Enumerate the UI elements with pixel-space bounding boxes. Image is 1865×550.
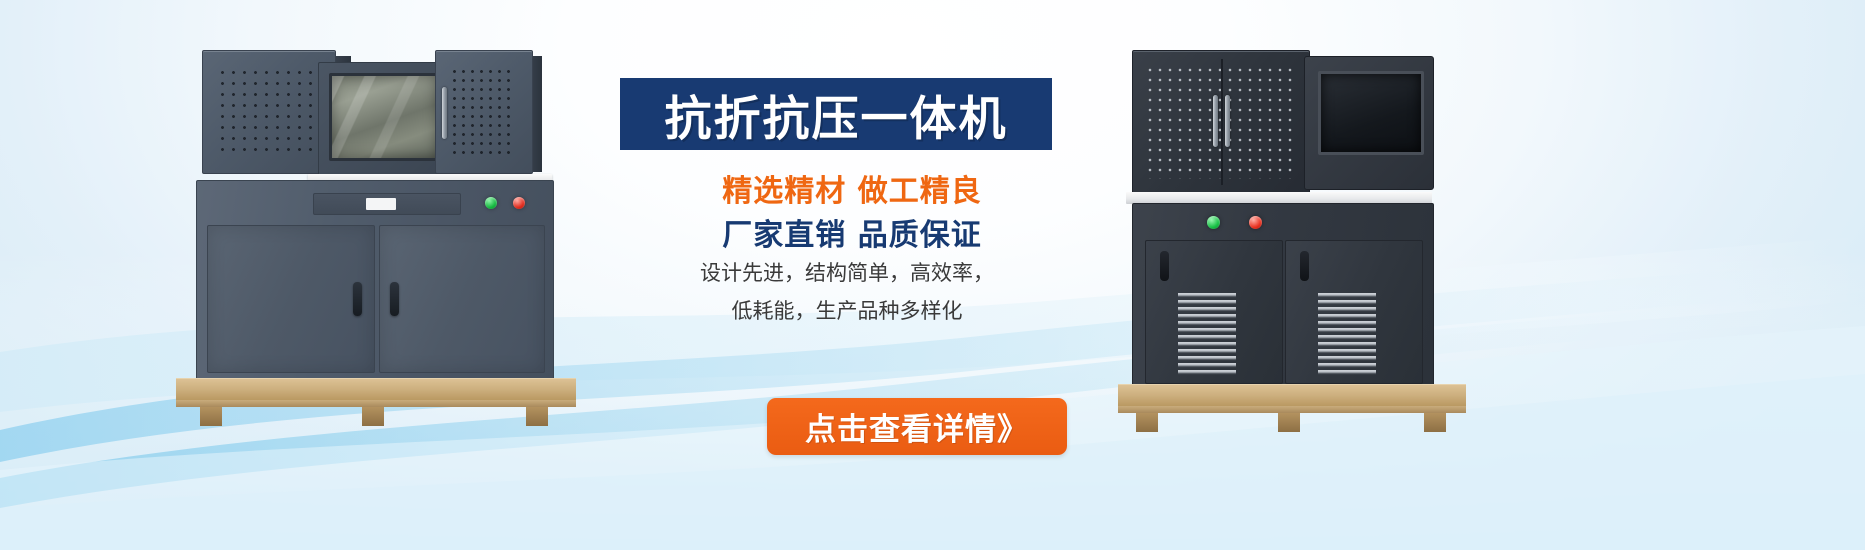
left-machine-cabinet-door-2 [379,225,545,373]
pallet-deck [1118,384,1466,407]
indicator-light-green [1207,216,1220,229]
pallet-leg [1278,413,1300,432]
indicator-light-red [1249,216,1262,229]
headline-orange: 精选精材 做工精良 [652,166,1052,210]
left-machine-top-left-cabinet [202,50,336,174]
pallet-slat [176,400,576,407]
left-machine-screen [329,73,441,161]
left-machine-top-right-cabinet [435,50,533,174]
view-details-label: 点击查看详情》 [805,404,1029,449]
pallet-leg [526,407,548,426]
cabinet-handle [442,87,447,139]
cabinet-divider [1221,59,1223,185]
pallet-deck [176,378,576,401]
right-machine-body [1132,203,1434,391]
pallet-leg [1136,413,1158,432]
vent-louver-icon [1178,293,1236,375]
door-handle [353,282,362,316]
machine-left-photo [170,48,566,403]
product-banner: 抗折抗压一体机 精选精材 做工精良 厂家直销 品质保证 设计先进，结构简单，高效… [0,0,1865,550]
door-handle [1300,251,1309,281]
cabinet-handle [1213,95,1218,147]
perforated-panel-icon [450,67,510,155]
indicator-light-red [513,197,525,209]
left-machine-monitor-frame [318,62,446,176]
right-machine-top-cabinet [1132,50,1310,194]
description-line-2: 低耗能，生产品种多样化 [632,296,1062,328]
banner-text-content: 抗折抗压一体机 精选精材 做工精良 厂家直销 品质保证 设计先进，结构简单，高效… [612,70,1072,470]
door-handle [390,282,399,316]
view-details-button[interactable]: 点击查看详情》 [767,398,1067,455]
cabinet-handle [1225,95,1230,147]
description-line-1: 设计先进，结构简单，高效率， [632,258,1062,290]
control-panel-display [366,198,396,210]
left-machine-wooden-pallet [176,378,576,426]
right-machine-wooden-pallet [1118,384,1466,432]
indicator-light-green [485,197,497,209]
left-machine-cabinet-door-1 [207,225,375,373]
right-machine-cabinet-door-2 [1285,240,1423,384]
title-bar: 抗折抗压一体机 [620,78,1052,150]
pallet-leg [362,407,384,426]
left-machine-control-panel [313,193,461,215]
pallet-slat [1118,406,1466,413]
machine-right-photo [1118,46,1478,408]
pallet-leg [200,407,222,426]
right-machine-screen [1318,71,1424,155]
page-title: 抗折抗压一体机 [665,80,1008,149]
vent-louver-icon [1318,293,1376,375]
door-handle [1160,251,1169,281]
right-machine-cabinet-door-1 [1145,240,1283,384]
subhead-navy: 厂家直销 品质保证 [652,210,1052,254]
right-machine-monitor [1304,56,1434,190]
pallet-leg [1424,413,1446,432]
left-machine-body [196,180,554,382]
perforated-panel-icon [217,67,313,155]
